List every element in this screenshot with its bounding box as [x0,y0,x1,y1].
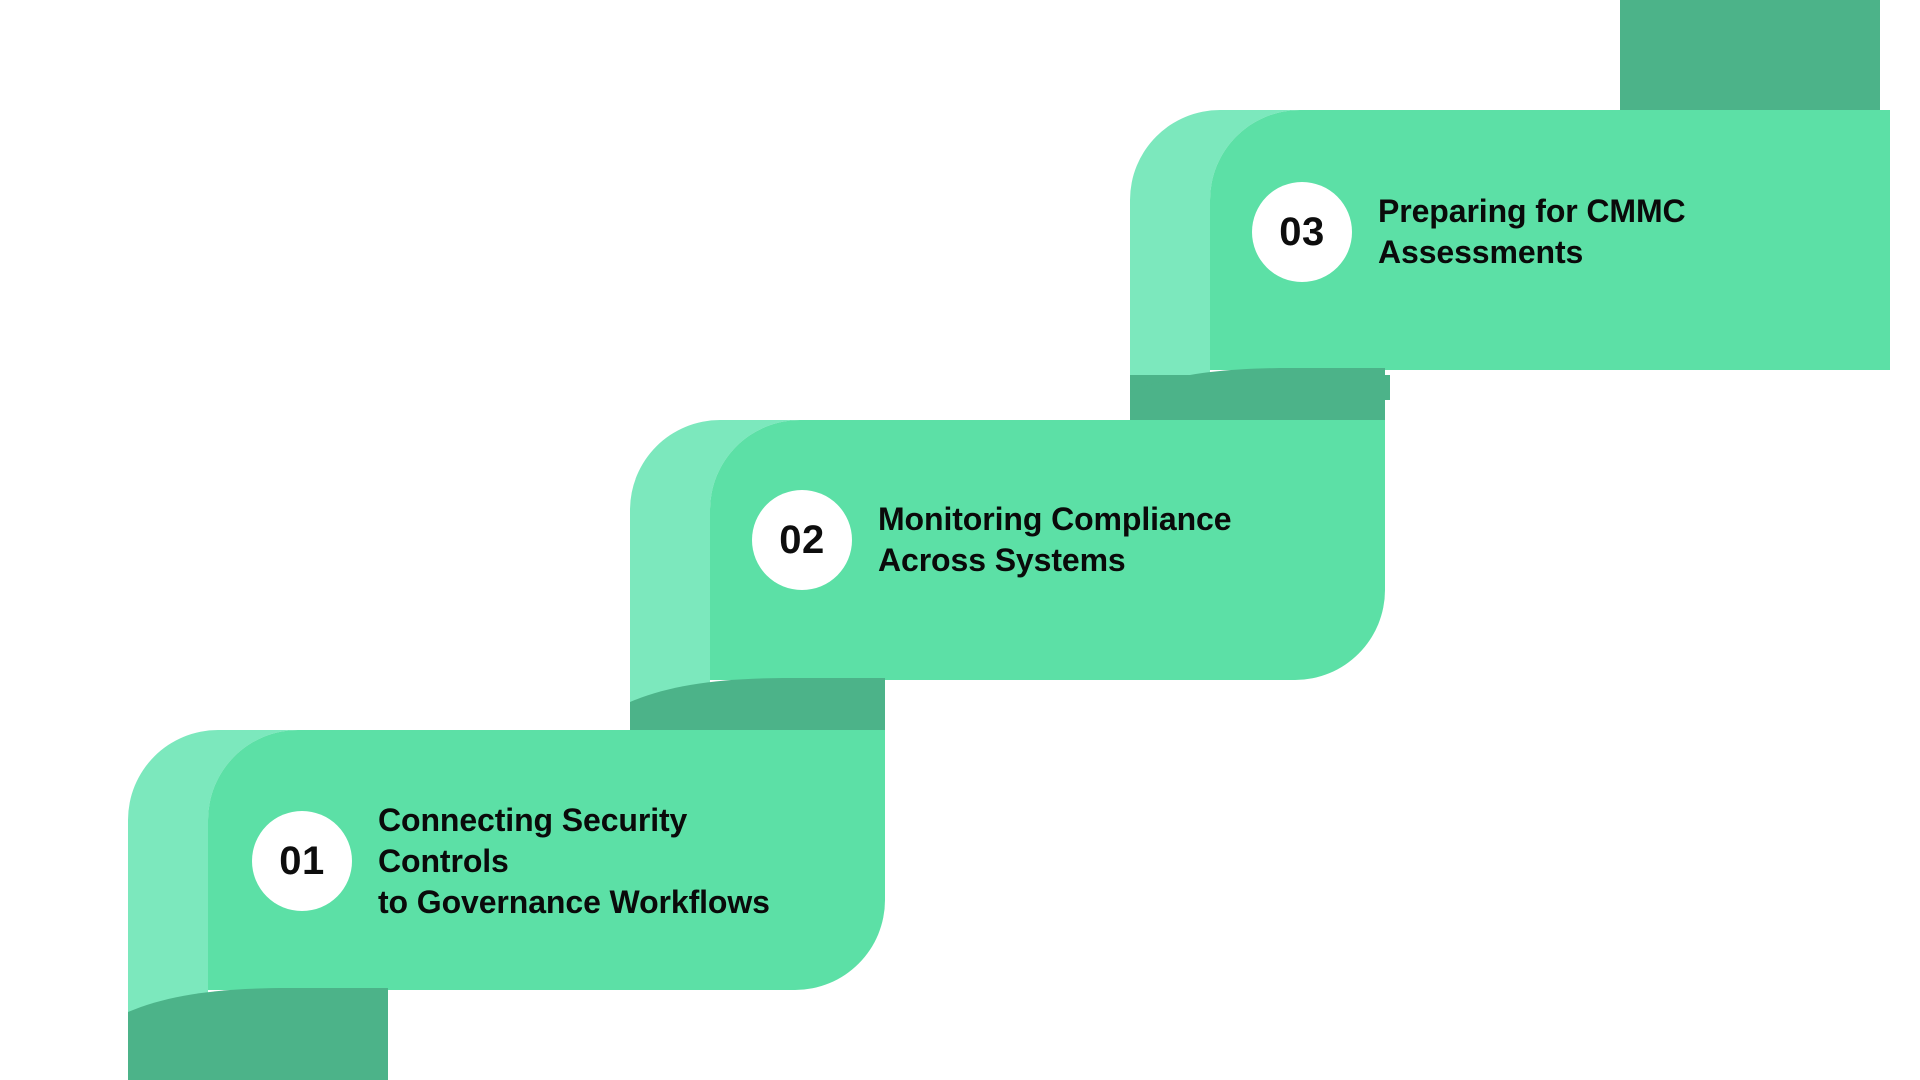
step-badge-02: 02 [752,490,852,590]
step-item-01[interactable]: 01 Connecting Security Controls to Gover… [252,800,772,923]
infographic-canvas: 01 Connecting Security Controls to Gover… [0,0,1920,1080]
step-title-02: Monitoring Compliance Across Systems [878,499,1231,581]
step-number-02: 02 [779,520,825,560]
step-badge-03: 03 [1252,182,1352,282]
step-3-card-right-edge [1790,110,1890,370]
step-item-03[interactable]: 03 Preparing for CMMC Assessments [1252,182,1772,282]
step-1-base-shadow [128,988,388,1080]
step-number-01: 01 [279,841,325,881]
step-title-01: Connecting Security Controls to Governan… [378,800,772,923]
step-number-03: 03 [1279,212,1325,252]
step-badge-01: 01 [252,811,352,911]
step-title-03: Preparing for CMMC Assessments [1378,191,1686,273]
step-item-02[interactable]: 02 Monitoring Compliance Across Systems [752,490,1272,590]
